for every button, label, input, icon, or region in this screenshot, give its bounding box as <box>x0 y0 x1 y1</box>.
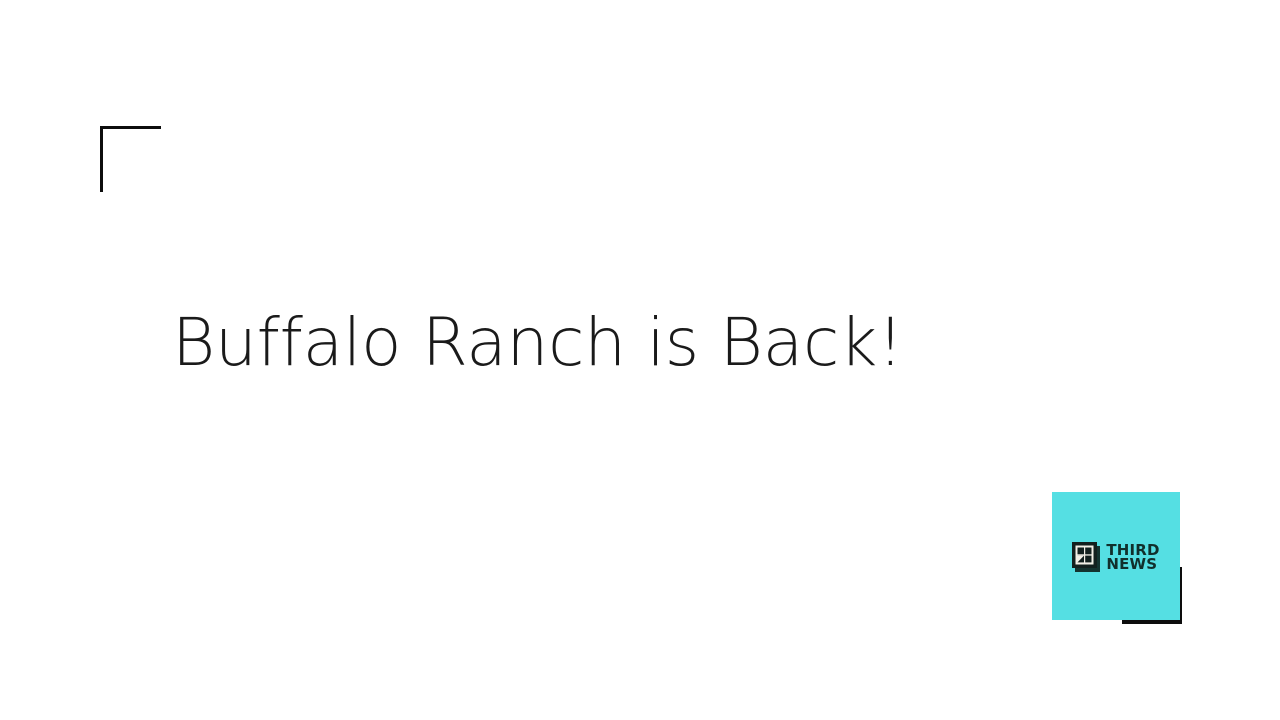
window-pane-icon <box>1072 542 1100 572</box>
corner-bracket-top-left-icon <box>100 126 161 192</box>
brand-badge: THIRD NEWS <box>1052 492 1180 620</box>
brand-name-line-2: NEWS <box>1106 557 1159 571</box>
brand-lockup: THIRD NEWS <box>1072 542 1159 572</box>
brand-wordmark: THIRD NEWS <box>1106 543 1159 572</box>
page-title: Buffalo Ranch is Back! <box>172 304 903 382</box>
slide-canvas: Buffalo Ranch is Back! THIRD NEWS <box>0 0 1280 720</box>
